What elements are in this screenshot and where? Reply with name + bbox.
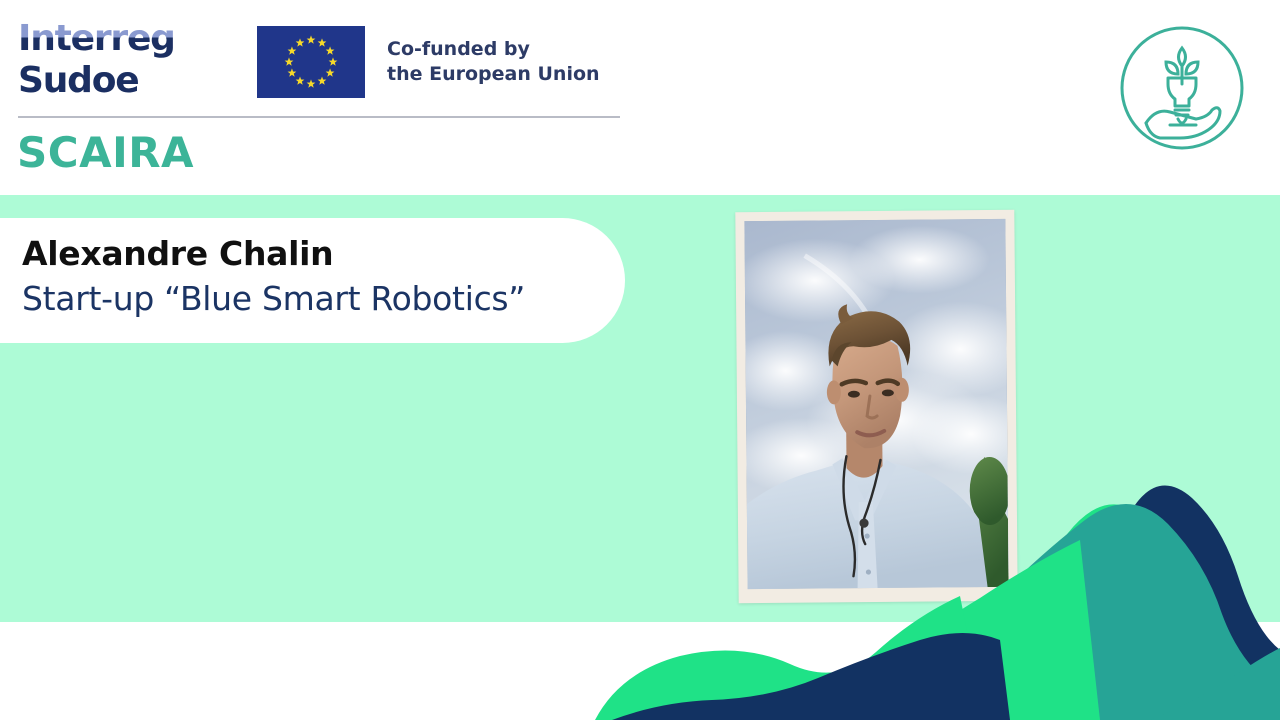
speaker-portrait-photo — [744, 219, 1008, 589]
slide-header: Interreg Sudoe SCAIRA Co-funded by the E… — [0, 0, 1280, 195]
slide-canvas: Interreg Sudoe SCAIRA Co-funded by the E… — [0, 0, 1280, 720]
leaf-bulb-in-hand-icon — [1112, 18, 1252, 158]
speaker-photo-frame — [735, 210, 1017, 603]
eu-funding-block: Co-funded by the European Union — [257, 26, 600, 98]
speaker-name: Alexandre Chalin — [22, 232, 625, 275]
interreg-wordmark-line1: Interreg — [18, 18, 233, 60]
speaker-role: Start-up “Blue Smart Robotics” — [22, 275, 625, 323]
interreg-sudoe-logo: Interreg Sudoe — [18, 18, 233, 102]
interreg-wordmark-line2: Sudoe — [18, 60, 233, 102]
speaker-name-card: Alexandre Chalin Start-up “Blue Smart Ro… — [0, 218, 625, 343]
scaira-wordmark: SCAIRA — [17, 130, 194, 176]
eu-funding-line1: Co-funded by — [387, 37, 600, 62]
eu-flag-icon — [257, 26, 365, 98]
eu-funding-line2: the European Union — [387, 62, 600, 87]
eu-funding-text: Co-funded by the European Union — [387, 37, 600, 87]
header-divider — [18, 116, 620, 118]
